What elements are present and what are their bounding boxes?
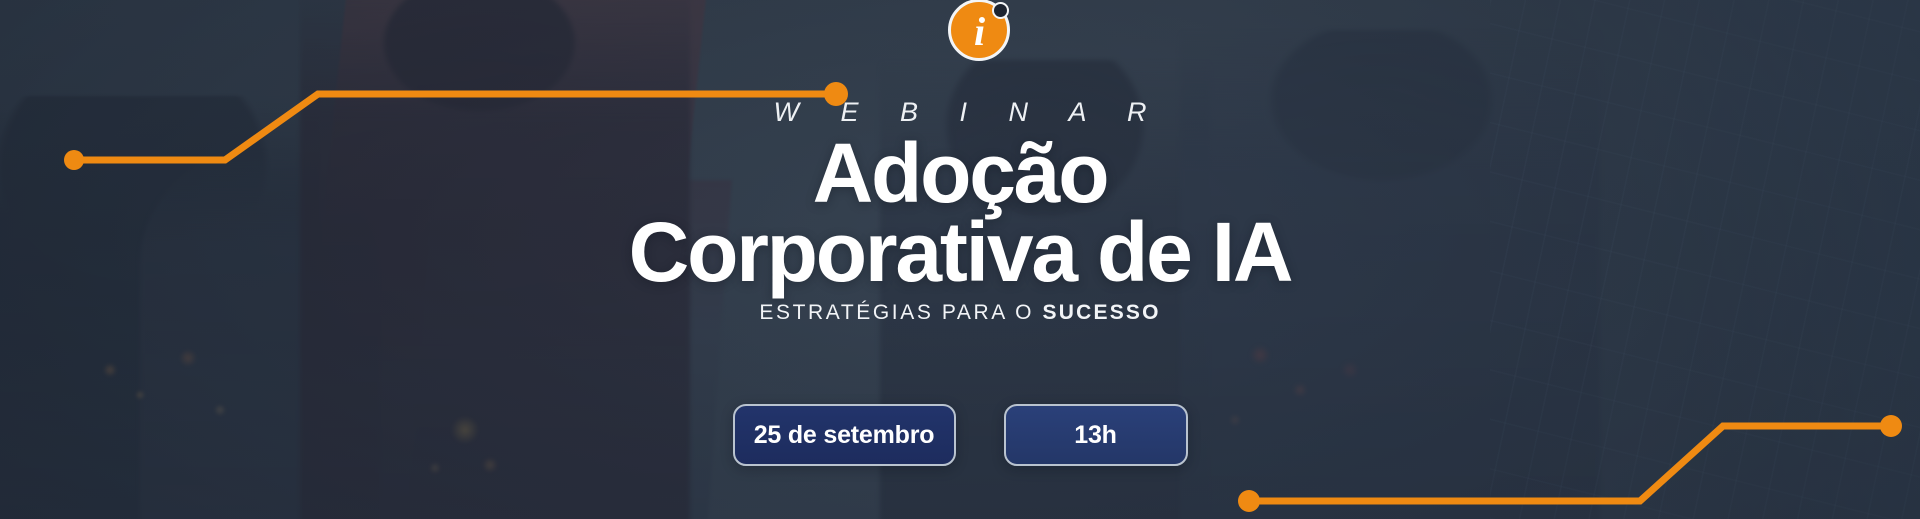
subtitle: ESTRATÉGIAS PARA O SUCESSO (0, 301, 1920, 325)
time-pill[interactable]: 13h (1004, 404, 1188, 466)
accent-dot-bottom-right-start (1238, 490, 1260, 512)
banner-content: W E B I N A R Adoção Corporativa de IA E… (0, 0, 1920, 325)
date-pill[interactable]: 25 de setembro (733, 404, 956, 466)
webinar-banner: i W E B I N A R Adoção Corporativa de IA… (0, 0, 1920, 519)
time-pill-label: 13h (1074, 421, 1116, 450)
date-pill-label: 25 de setembro (754, 421, 935, 450)
page-title: Adoção Corporativa de IA (0, 134, 1920, 291)
subtitle-highlight: SUCESSO (1043, 301, 1161, 324)
eyebrow-label: W E B I N A R (0, 96, 1920, 128)
title-line-2: Corporativa de IA (0, 213, 1920, 291)
subtitle-prefix: ESTRATÉGIAS PARA O (759, 301, 1042, 324)
event-info-pills: 25 de setembro 13h (0, 404, 1920, 466)
